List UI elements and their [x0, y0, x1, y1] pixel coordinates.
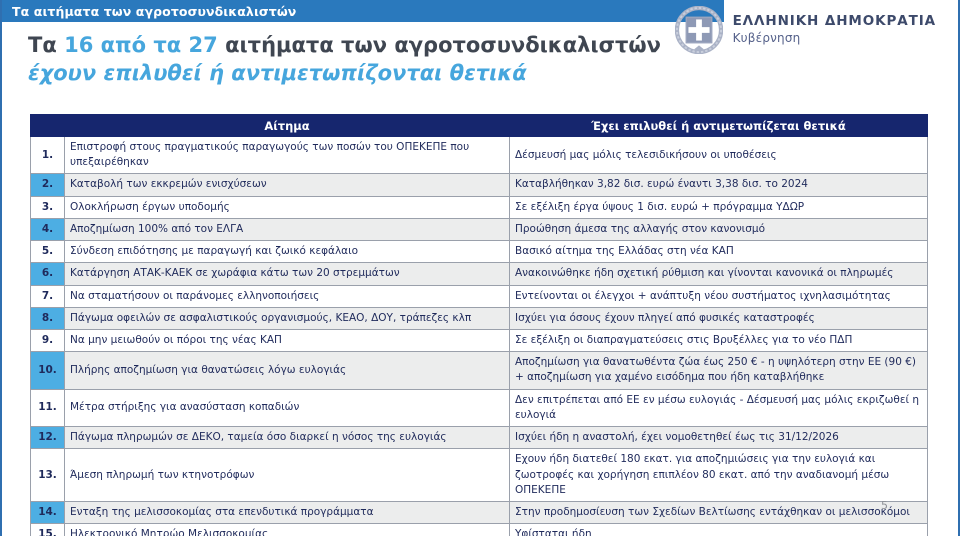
column-header-number	[31, 115, 65, 137]
table-row: 13.Άμεση πληρωμή των κτηνοτρόφωνΕχουν ήδ…	[31, 449, 928, 502]
row-number-cell: 2.	[31, 174, 65, 196]
answer-cell: Δεν επιτρέπεται από ΕΕ εν μέσω ευλογιάς …	[510, 389, 928, 426]
headline-accent: 16 από τα 27	[64, 33, 218, 57]
government-text: ΕΛΛΗΝΙΚΗ ΔΗΜΟΚΡΑΤΙΑ Κυβέρνηση	[733, 14, 936, 45]
row-number-cell: 15.	[31, 524, 65, 536]
table-row: 14.Ενταξη της μελισσοκομίας στα επενδυτι…	[31, 501, 928, 523]
request-cell: Πλήρης αποζημίωση για θανατώσεις λόγω ευ…	[65, 352, 510, 389]
row-number-cell: 1.	[31, 137, 65, 174]
column-header-answer: Έχει επιλυθεί ή αντιμετωπίζεται θετικά	[510, 115, 928, 137]
answer-cell: Καταβλήθηκαν 3,82 δισ. ευρώ έναντι 3,38 …	[510, 174, 928, 196]
answer-cell: Εχουν ήδη διατεθεί 180 εκατ. για αποζημι…	[510, 449, 928, 502]
row-number-cell: 12.	[31, 427, 65, 449]
request-cell: Άμεση πληρωμή των κτηνοτρόφων	[65, 449, 510, 502]
government-title: ΕΛΛΗΝΙΚΗ ΔΗΜΟΚΡΑΤΙΑ	[733, 14, 936, 30]
table-head: Αίτημα Έχει επιλυθεί ή αντιμετωπίζεται θ…	[31, 115, 928, 137]
answer-cell: Ισχύει για όσους έχουν πληγεί από φυσικέ…	[510, 307, 928, 329]
table-row: 9.Να μην μειωθούν οι πόροι της νέας ΚΑΠΣ…	[31, 329, 928, 351]
table-body: 1.Επιστροφή στους πραγματικούς παραγωγού…	[31, 137, 928, 536]
answer-cell: Υφίσταται ήδη	[510, 524, 928, 536]
request-cell: Μέτρα στήριξης για ανασύσταση κοπαδιών	[65, 389, 510, 426]
answer-cell: Σε εξέλιξη έργα ύψους 1 δισ. ευρώ + πρόγ…	[510, 196, 928, 218]
government-subtitle: Κυβέρνηση	[733, 32, 936, 46]
headline-line-2: έχουν επιλυθεί ή αντιμετωπίζονται θετικά	[28, 60, 708, 88]
row-number-cell: 9.	[31, 329, 65, 351]
requests-table: Αίτημα Έχει επιλυθεί ή αντιμετωπίζεται θ…	[30, 114, 928, 536]
slide: Τα αιτήματα των αγροτοσυνδικαλιστών ΕΛΛΗ…	[0, 0, 960, 536]
answer-cell: Δέσμευσή μας μόλις τελεσιδικήσουν οι υπο…	[510, 137, 928, 174]
table-row: 7.Να σταματήσουν οι παράνομες ελληνοποιή…	[31, 285, 928, 307]
table-row: 3.Ολοκλήρωση έργων υποδομήςΣε εξέλιξη έρ…	[31, 196, 928, 218]
government-branding: ΕΛΛΗΝΙΚΗ ΔΗΜΟΚΡΑΤΙΑ Κυβέρνηση	[675, 6, 936, 54]
row-number-cell: 6.	[31, 263, 65, 285]
answer-cell: Βασικό αίτημα της Ελλάδας στη νέα ΚΑΠ	[510, 241, 928, 263]
requests-table-wrapper: Αίτημα Έχει επιλυθεί ή αντιμετωπίζεται θ…	[30, 114, 927, 536]
row-number-cell: 4.	[31, 218, 65, 240]
headline-part-1: Τα	[28, 33, 64, 57]
table-row: 12.Πάγωμα πληρωμών σε ΔΕΚΟ, ταμεία όσο δ…	[31, 427, 928, 449]
request-cell: Να σταματήσουν οι παράνομες ελληνοποιήσε…	[65, 285, 510, 307]
row-number-cell: 13.	[31, 449, 65, 502]
top-ribbon: Τα αιτήματα των αγροτοσυνδικαλιστών	[2, 0, 724, 22]
request-cell: Κατάργηση ΑΤΑΚ-ΚΑΕΚ σε χωράφια κάτω των …	[65, 263, 510, 285]
row-number-cell: 11.	[31, 389, 65, 426]
table-row: 1.Επιστροφή στους πραγματικούς παραγωγού…	[31, 137, 928, 174]
answer-cell: Εντείνονται οι έλεγχοι + ανάπτυξη νέου σ…	[510, 285, 928, 307]
request-cell: Πάγωμα πληρωμών σε ΔΕΚΟ, ταμεία όσο διαρ…	[65, 427, 510, 449]
request-cell: Αποζημίωση 100% από τον ΕΛΓΑ	[65, 218, 510, 240]
answer-cell: Ισχύει ήδη η αναστολή, έχει νομοθετηθεί …	[510, 427, 928, 449]
table-row: 5.Σύνδεση επιδότησης με παραγωγή και ζωι…	[31, 241, 928, 263]
row-number-cell: 5.	[31, 241, 65, 263]
table-row: 2.Καταβολή των εκκρεμών ενισχύσεωνΚαταβλ…	[31, 174, 928, 196]
answer-cell: Ανακοινώθηκε ήδη σχετική ρύθμιση και γίν…	[510, 263, 928, 285]
request-cell: Πάγωμα οφειλών σε ασφαλιστικούς οργανισμ…	[65, 307, 510, 329]
table-row: 4.Αποζημίωση 100% από τον ΕΛΓΑΠροώθηση ά…	[31, 218, 928, 240]
row-number-cell: 14.	[31, 501, 65, 523]
answer-cell: Σε εξέλιξη οι διαπραγματεύσεις στις Βρυξ…	[510, 329, 928, 351]
row-number-cell: 3.	[31, 196, 65, 218]
headline-line-1: Τα 16 από τα 27 αιτήματα των αγροτοσυνδι…	[28, 32, 708, 60]
answer-cell: Στην προδημοσίευση των Σχεδίων Βελτίωσης…	[510, 501, 928, 523]
request-cell: Ολοκλήρωση έργων υποδομής	[65, 196, 510, 218]
headline-part-2: αιτήματα των αγροτοσυνδικαλιστών	[218, 33, 661, 57]
row-number-cell: 10.	[31, 352, 65, 389]
column-header-request: Αίτημα	[65, 115, 510, 137]
row-number-cell: 8.	[31, 307, 65, 329]
request-cell: Καταβολή των εκκρεμών ενισχύσεων	[65, 174, 510, 196]
table-row: 15.Ηλεκτρονικό Μητρώο ΜελισσοκομίαςΥφίστ…	[31, 524, 928, 536]
ribbon-title: Τα αιτήματα των αγροτοσυνδικαλιστών	[2, 4, 296, 19]
request-cell: Επιστροφή στους πραγματικούς παραγωγούς …	[65, 137, 510, 174]
request-cell: Σύνδεση επιδότησης με παραγωγή και ζωικό…	[65, 241, 510, 263]
table-row: 6.Κατάργηση ΑΤΑΚ-ΚΑΕΚ σε χωράφια κάτω τω…	[31, 263, 928, 285]
request-cell: Να μην μειωθούν οι πόροι της νέας ΚΑΠ	[65, 329, 510, 351]
table-row: 8.Πάγωμα οφειλών σε ασφαλιστικούς οργανι…	[31, 307, 928, 329]
answer-cell: Αποζημίωση για θανατωθέντα ζώα έως 250 €…	[510, 352, 928, 389]
table-header-row: Αίτημα Έχει επιλυθεί ή αντιμετωπίζεται θ…	[31, 115, 928, 137]
page-title: Τα 16 από τα 27 αιτήματα των αγροτοσυνδι…	[28, 32, 708, 87]
request-cell: Ηλεκτρονικό Μητρώο Μελισσοκομίας	[65, 524, 510, 536]
answer-cell: Προώθηση άμεσα της αλλαγής στον κανονισμ…	[510, 218, 928, 240]
table-row: 11.Μέτρα στήριξης για ανασύσταση κοπαδιώ…	[31, 389, 928, 426]
row-number-cell: 7.	[31, 285, 65, 307]
request-cell: Ενταξη της μελισσοκομίας στα επενδυτικά …	[65, 501, 510, 523]
table-row: 10.Πλήρης αποζημίωση για θανατώσεις λόγω…	[31, 352, 928, 389]
page-number: 5	[881, 499, 888, 512]
